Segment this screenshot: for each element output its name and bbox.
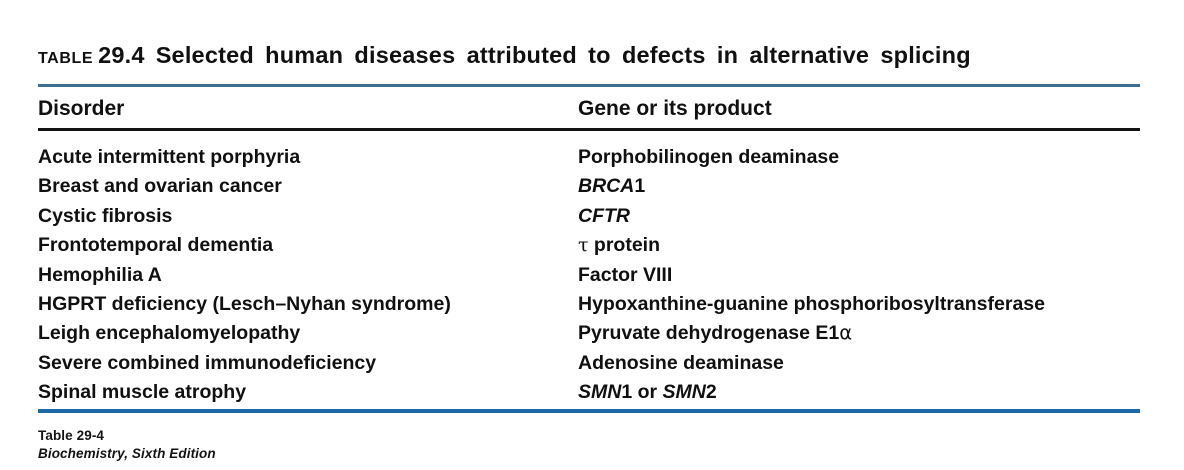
cell-gene: SMN1 or SMN2 [578,380,717,404]
column-header-gene: Gene or its product [578,97,772,121]
gene-text: 1 [621,381,632,403]
cell-gene: Pyruvate dehydrogenase E1α [578,321,852,345]
table-number: 29.4 [98,42,145,68]
gene-symbol: BRCA [578,175,634,197]
gene-symbol: SMN [578,381,621,403]
rule-bottom [38,409,1140,413]
gene-symbol: SMN [663,381,706,403]
table-row: Leigh encephalomyelopathyPyruvate dehydr… [0,321,1184,350]
cell-gene: τ protein [578,233,660,257]
gene-text: Porphobilinogen deaminase [578,146,839,168]
cell-gene: Porphobilinogen deaminase [578,145,839,169]
caption-source: Biochemistry, Sixth Edition [38,446,216,461]
cell-gene: Hypoxanthine-guanine phosphoribosyltrans… [578,292,1045,316]
cell-gene: BRCA1 [578,174,645,198]
table-row: Hemophilia AFactor VIII [0,263,1184,292]
gene-text: 2 [706,381,717,403]
gene-text: 1 [634,175,645,197]
table-figure: Table29.4Selected human diseases attribu… [0,0,1184,470]
cell-disorder: Frontotemporal dementia [38,233,273,257]
gene-text: Hypoxanthine-guanine phosphoribosyltrans… [578,293,1045,315]
table-body: Acute intermittent porphyriaPorphobilino… [0,145,1184,410]
table-row: Spinal muscle atrophySMN1 or SMN2 [0,380,1184,409]
gene-text: Adenosine deaminase [578,352,784,374]
cell-gene: Adenosine deaminase [578,351,784,375]
gene-text: Factor VIII [578,264,672,286]
cell-disorder: Acute intermittent porphyria [38,145,300,169]
gene-text: protein [589,234,661,256]
cell-disorder: Spinal muscle atrophy [38,380,246,404]
table-row: Breast and ovarian cancerBRCA1 [0,174,1184,203]
table-label-word: Table [38,42,93,68]
cell-disorder: Breast and ovarian cancer [38,174,282,198]
cell-disorder: Cystic fibrosis [38,204,172,228]
table-row: Frontotemporal dementiaτ protein [0,233,1184,262]
gene-text: Pyruvate dehydrogenase E1 [578,322,839,344]
figure-caption: Table 29-4 Biochemistry, Sixth Edition [38,428,216,461]
table-row: HGPRT deficiency (Lesch–Nyhan syndrome)H… [0,292,1184,321]
gene-symbol: CFTR [578,205,630,227]
column-header-disorder: Disorder [38,97,124,121]
cell-disorder: Leigh encephalomyelopathy [38,321,300,345]
table-row: Severe combined immunodeficiencyAdenosin… [0,351,1184,380]
cell-gene: Factor VIII [578,263,672,287]
cell-disorder: HGPRT deficiency (Lesch–Nyhan syndrome) [38,292,451,316]
gene-text: or [632,381,662,403]
table-row: Cystic fibrosisCFTR [0,204,1184,233]
greek-alpha: α [839,321,852,344]
greek-tau: τ [578,234,589,256]
caption-table-number: Table 29-4 [38,428,216,443]
cell-disorder: Severe combined immunodeficiency [38,351,376,375]
table-row: Acute intermittent porphyriaPorphobilino… [0,145,1184,174]
table-title: Table29.4Selected human diseases attribu… [38,42,1148,69]
rule-top [38,84,1140,87]
table-title-text: Selected human diseases attributed to de… [156,42,971,68]
cell-gene: CFTR [578,204,630,228]
rule-header [38,128,1140,131]
cell-disorder: Hemophilia A [38,263,162,287]
